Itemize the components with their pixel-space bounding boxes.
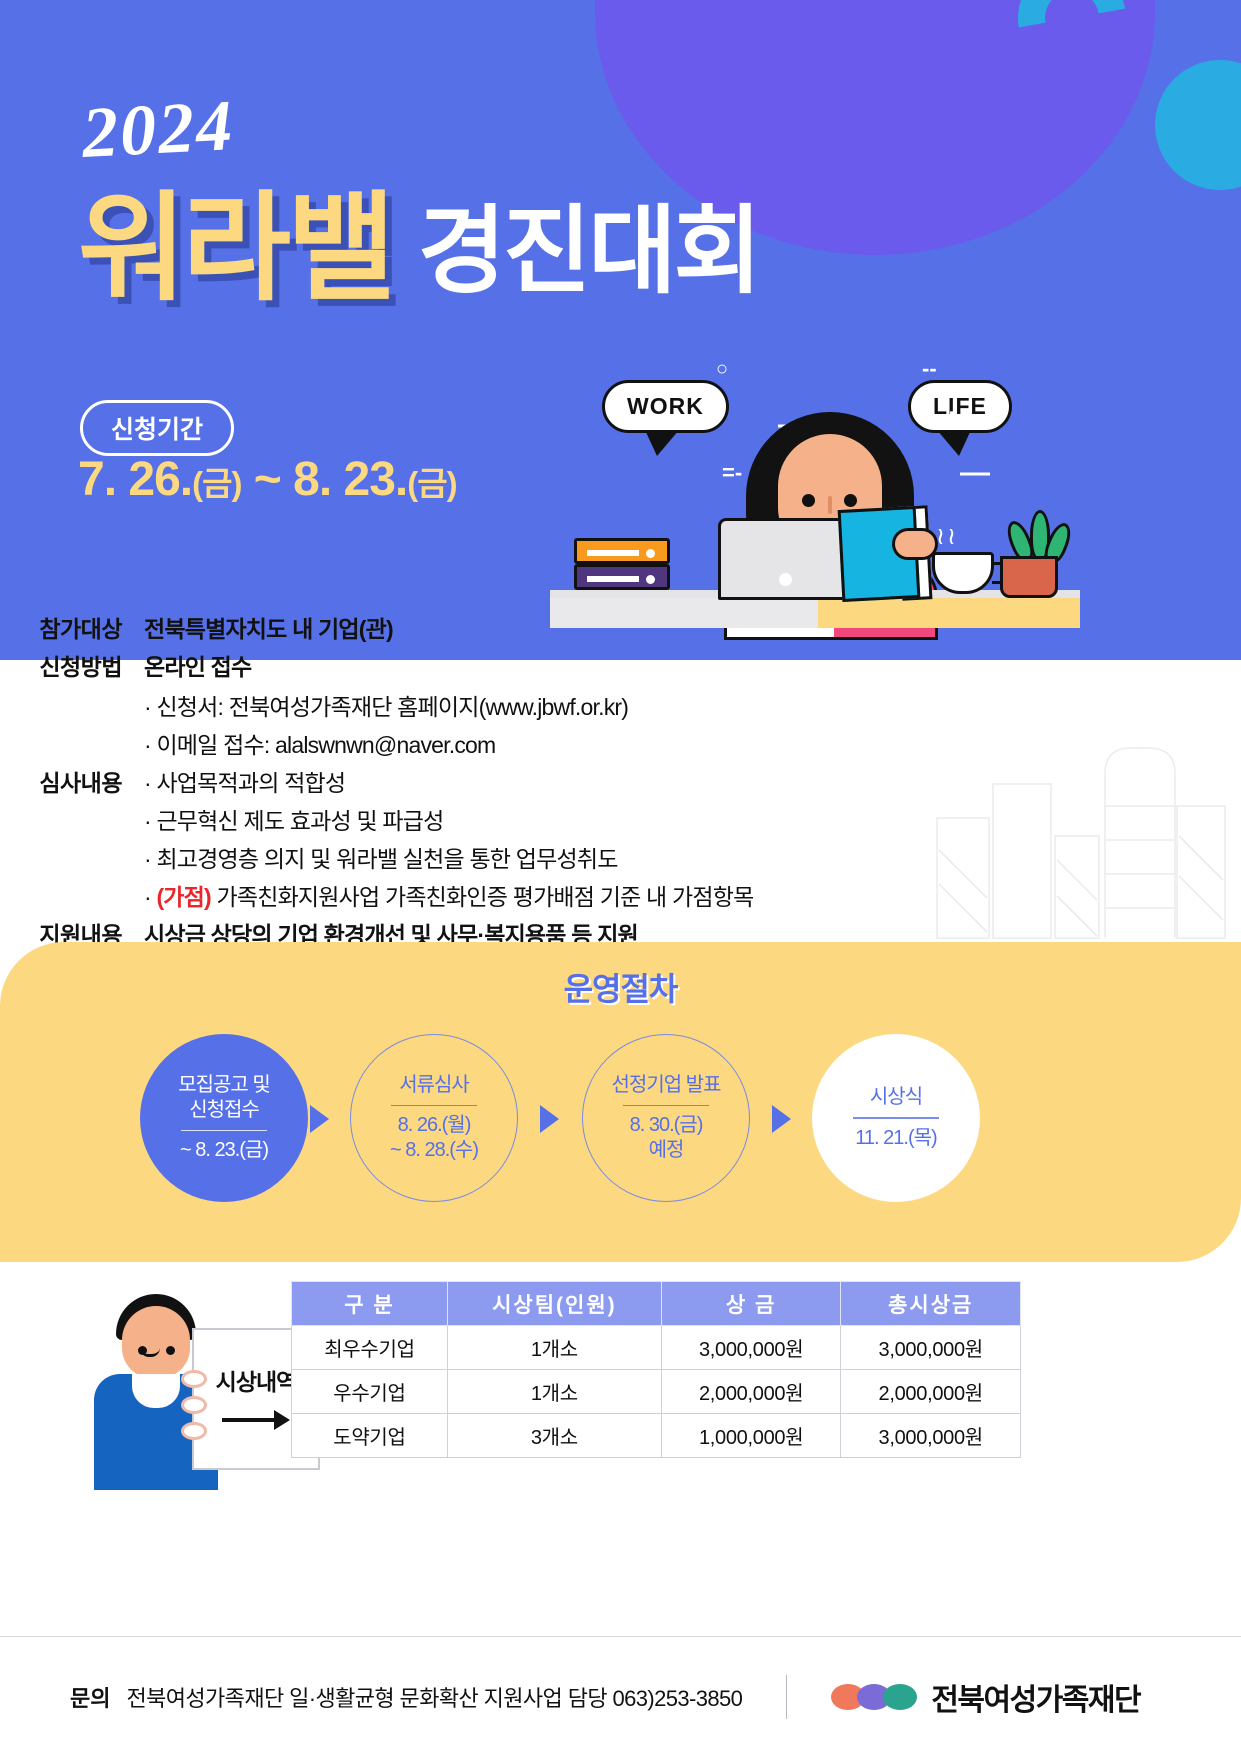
table-cell: 1개소: [447, 1326, 661, 1370]
info-row: · 이메일 접수: alalswnwn@naver.com: [0, 726, 495, 760]
footer-contact-text: 전북여성가족재단 일·생활균형 문화확산 지원사업 담당 063)253-385…: [126, 1681, 742, 1713]
process-step-date: ~ 8. 23.(금): [180, 1138, 268, 1163]
info-value: 온라인 접수: [144, 648, 251, 682]
plant-pot: [1000, 556, 1058, 598]
process-step-3: 선정기업 발표 8. 30.(금)예정: [582, 1034, 750, 1202]
process-arrow-1: [310, 1105, 329, 1133]
decor-dash-symbol-left: =-: [722, 460, 742, 486]
process-step-name: 서류심사: [399, 1073, 469, 1098]
period-end-number: 8. 23.: [293, 453, 407, 506]
info-row: · 신청서: 전북여성가족재단 홈페이지(www.jbwf.or.kr): [0, 688, 628, 722]
period-badge: 신청기간: [80, 400, 234, 456]
book-stripe: [587, 576, 639, 582]
mascot-face: [122, 1306, 190, 1378]
bullet-mark: ·: [144, 884, 156, 910]
info-value: · 최고경영층 의지 및 워라밸 실천을 통한 업무성취도: [144, 840, 618, 874]
table-header-cell: 상 금: [661, 1282, 841, 1326]
decor-circle-symbol: ○: [716, 358, 728, 381]
table-cell: 2,000,000원: [841, 1370, 1021, 1414]
mascot-eye-right: [166, 1346, 175, 1355]
speech-bubble-work: WORK: [602, 380, 729, 433]
table-cell: 3,000,000원: [841, 1326, 1021, 1370]
decor-dash-symbol-right: --: [922, 356, 937, 382]
laptop: [718, 518, 848, 600]
info-row: · 최고경영층 의지 및 워라밸 실천을 통한 업무성취도: [0, 840, 618, 874]
process-section: 운영절차 모집공고 및신청접수 ~ 8. 23.(금) 서류심사 8. 26.(…: [0, 942, 1241, 1262]
foundation-name: 전북여성가족재단: [931, 1675, 1140, 1719]
info-value: · 사업목적과의 적합성: [144, 764, 345, 798]
sign-ring-1: [181, 1370, 207, 1388]
table-cell: 도약기업: [292, 1414, 448, 1458]
process-step-date: 11. 21.(목): [855, 1126, 936, 1151]
table-row: 도약기업 3개소 1,000,000원 3,000,000원: [292, 1414, 1021, 1458]
info-label: 심사내용: [0, 764, 122, 798]
table-header-cell: 구 분: [292, 1282, 448, 1326]
gajeom-highlight: (가점): [156, 884, 210, 910]
process-step-name: 시상식: [870, 1085, 922, 1110]
table-row: 우수기업 1개소 2,000,000원 2,000,000원: [292, 1370, 1021, 1414]
foundation-logo-mark: [831, 1684, 917, 1710]
steam-icon: ≀≀: [936, 522, 958, 551]
divider: [391, 1105, 477, 1107]
title-rest: 경진대회: [418, 204, 759, 308]
info-value: · 이메일 접수: alalswnwn@naver.com: [144, 726, 495, 760]
table-cell: 최우수기업: [292, 1326, 448, 1370]
nose: [828, 496, 832, 514]
table-cell: 3,000,000원: [841, 1414, 1021, 1458]
table-header-cell: 총시상금: [841, 1282, 1021, 1326]
footer-contact-label: 문의: [70, 1681, 110, 1713]
table-cell: 1,000,000원: [661, 1414, 841, 1458]
process-step-date: 8. 26.(월)~ 8. 28.(수): [390, 1113, 478, 1163]
sign-ring-3: [181, 1422, 207, 1440]
process-step-4: 시상식 11. 21.(목): [812, 1034, 980, 1202]
info-value: · (가점) 가족친화지원사업 가족친화인증 평가배점 기준 내 가점항목: [144, 878, 753, 912]
gajeom-rest: 가족친화지원사업 가족친화인증 평가배점 기준 내 가점항목: [211, 884, 754, 910]
process-step-name: 모집공고 및신청접수: [178, 1073, 270, 1123]
table-header-row: 구 분 시상팀(인원) 상 금 총시상금: [292, 1282, 1021, 1326]
book-stripe: [587, 550, 639, 556]
eye-left: [802, 494, 815, 507]
process-title: 운영절차: [0, 964, 1241, 1010]
info-value: 전북특별자치도 내 기업(관): [144, 610, 393, 644]
info-row-gajeom: · (가점) 가족친화지원사업 가족친화인증 평가배점 기준 내 가점항목: [0, 878, 753, 912]
period-end-day: (금): [407, 465, 456, 502]
sign-ring-2: [181, 1396, 207, 1414]
book-dot: [646, 575, 655, 584]
table-cell: 3개소: [447, 1414, 661, 1458]
info-row: 참가대상 전북특별자치도 내 기업(관): [0, 610, 393, 644]
decor-minus-symbol-right: —: [960, 456, 990, 490]
info-row: 신청방법 온라인 접수: [0, 648, 251, 682]
award-mascot-illustration: 시상내역: [88, 1290, 288, 1490]
info-label: 참가대상: [0, 610, 122, 644]
hero-banner: 2024 워라밸 경진대회 신청기간 7. 26.(금) ~ 8. 23.(금)…: [0, 0, 1241, 660]
info-row: · 근무혁신 제도 효과성 및 파급성: [0, 802, 444, 836]
title-highlight: 워라밸: [78, 190, 392, 308]
info-label: 신청방법: [0, 648, 122, 682]
info-value: · 근무혁신 제도 효과성 및 파급성: [144, 802, 444, 836]
table-cell: 3,000,000원: [661, 1326, 841, 1370]
arrow-right-icon: [220, 1405, 292, 1435]
divider: [853, 1117, 939, 1119]
book-stack-purple: [574, 564, 670, 590]
laptop-logo: [779, 573, 792, 586]
period-start-day: (금): [192, 465, 241, 502]
table-cell: 2,000,000원: [661, 1370, 841, 1414]
award-sign-label: 시상내역: [216, 1363, 297, 1397]
book-dot: [646, 549, 655, 558]
award-table-wrapper: 구 분 시상팀(인원) 상 금 총시상금 최우수기업 1개소 3,000,000…: [291, 1281, 1021, 1458]
year-label: 2024: [80, 84, 236, 175]
period-dates: 7. 26.(금) ~ 8. 23.(금): [78, 452, 457, 507]
footer: 문의 전북여성가족재단 일·생활균형 문화확산 지원사업 담당 063)253-…: [0, 1636, 1241, 1756]
info-value: · 신청서: 전북여성가족재단 홈페이지(www.jbwf.or.kr): [144, 688, 628, 722]
process-arrow-3: [772, 1105, 791, 1133]
award-table: 구 분 시상팀(인원) 상 금 총시상금 최우수기업 1개소 3,000,000…: [291, 1281, 1021, 1458]
divider: [181, 1130, 267, 1132]
table-cell: 1개소: [447, 1370, 661, 1414]
table-cell: 우수기업: [292, 1370, 448, 1414]
info-section: 참가대상 전북특별자치도 내 기업(관) 신청방법 온라인 접수 · 신청서: …: [0, 600, 1241, 930]
hero-illustration: WORK LIFE ○ =- — + -- —: [540, 350, 1100, 640]
process-step-1: 모집공고 및신청접수 ~ 8. 23.(금): [140, 1034, 308, 1202]
logo-blob-teal: [883, 1684, 917, 1710]
period-separator: ~: [241, 453, 293, 506]
process-arrow-2: [540, 1105, 559, 1133]
eye-right: [844, 494, 857, 507]
process-step-2: 서류심사 8. 26.(월)~ 8. 28.(수): [350, 1034, 518, 1202]
table-row: 최우수기업 1개소 3,000,000원 3,000,000원: [292, 1326, 1021, 1370]
coffee-cup: [932, 552, 994, 594]
info-row: 심사내용 · 사업목적과의 적합성: [0, 764, 345, 798]
divider: [623, 1105, 709, 1107]
book-stack-orange: [574, 538, 670, 564]
process-step-name: 선정기업 발표: [612, 1073, 721, 1098]
page-title: 워라밸 경진대회: [78, 190, 759, 308]
hero-decorative-circle-cyan: [1155, 60, 1241, 190]
period-start-number: 7. 26.: [78, 453, 192, 506]
footer-divider: [786, 1675, 787, 1719]
table-header-cell: 시상팀(인원): [447, 1282, 661, 1326]
plus-symbol: +: [943, 403, 961, 437]
process-step-date: 8. 30.(금)예정: [630, 1113, 703, 1163]
